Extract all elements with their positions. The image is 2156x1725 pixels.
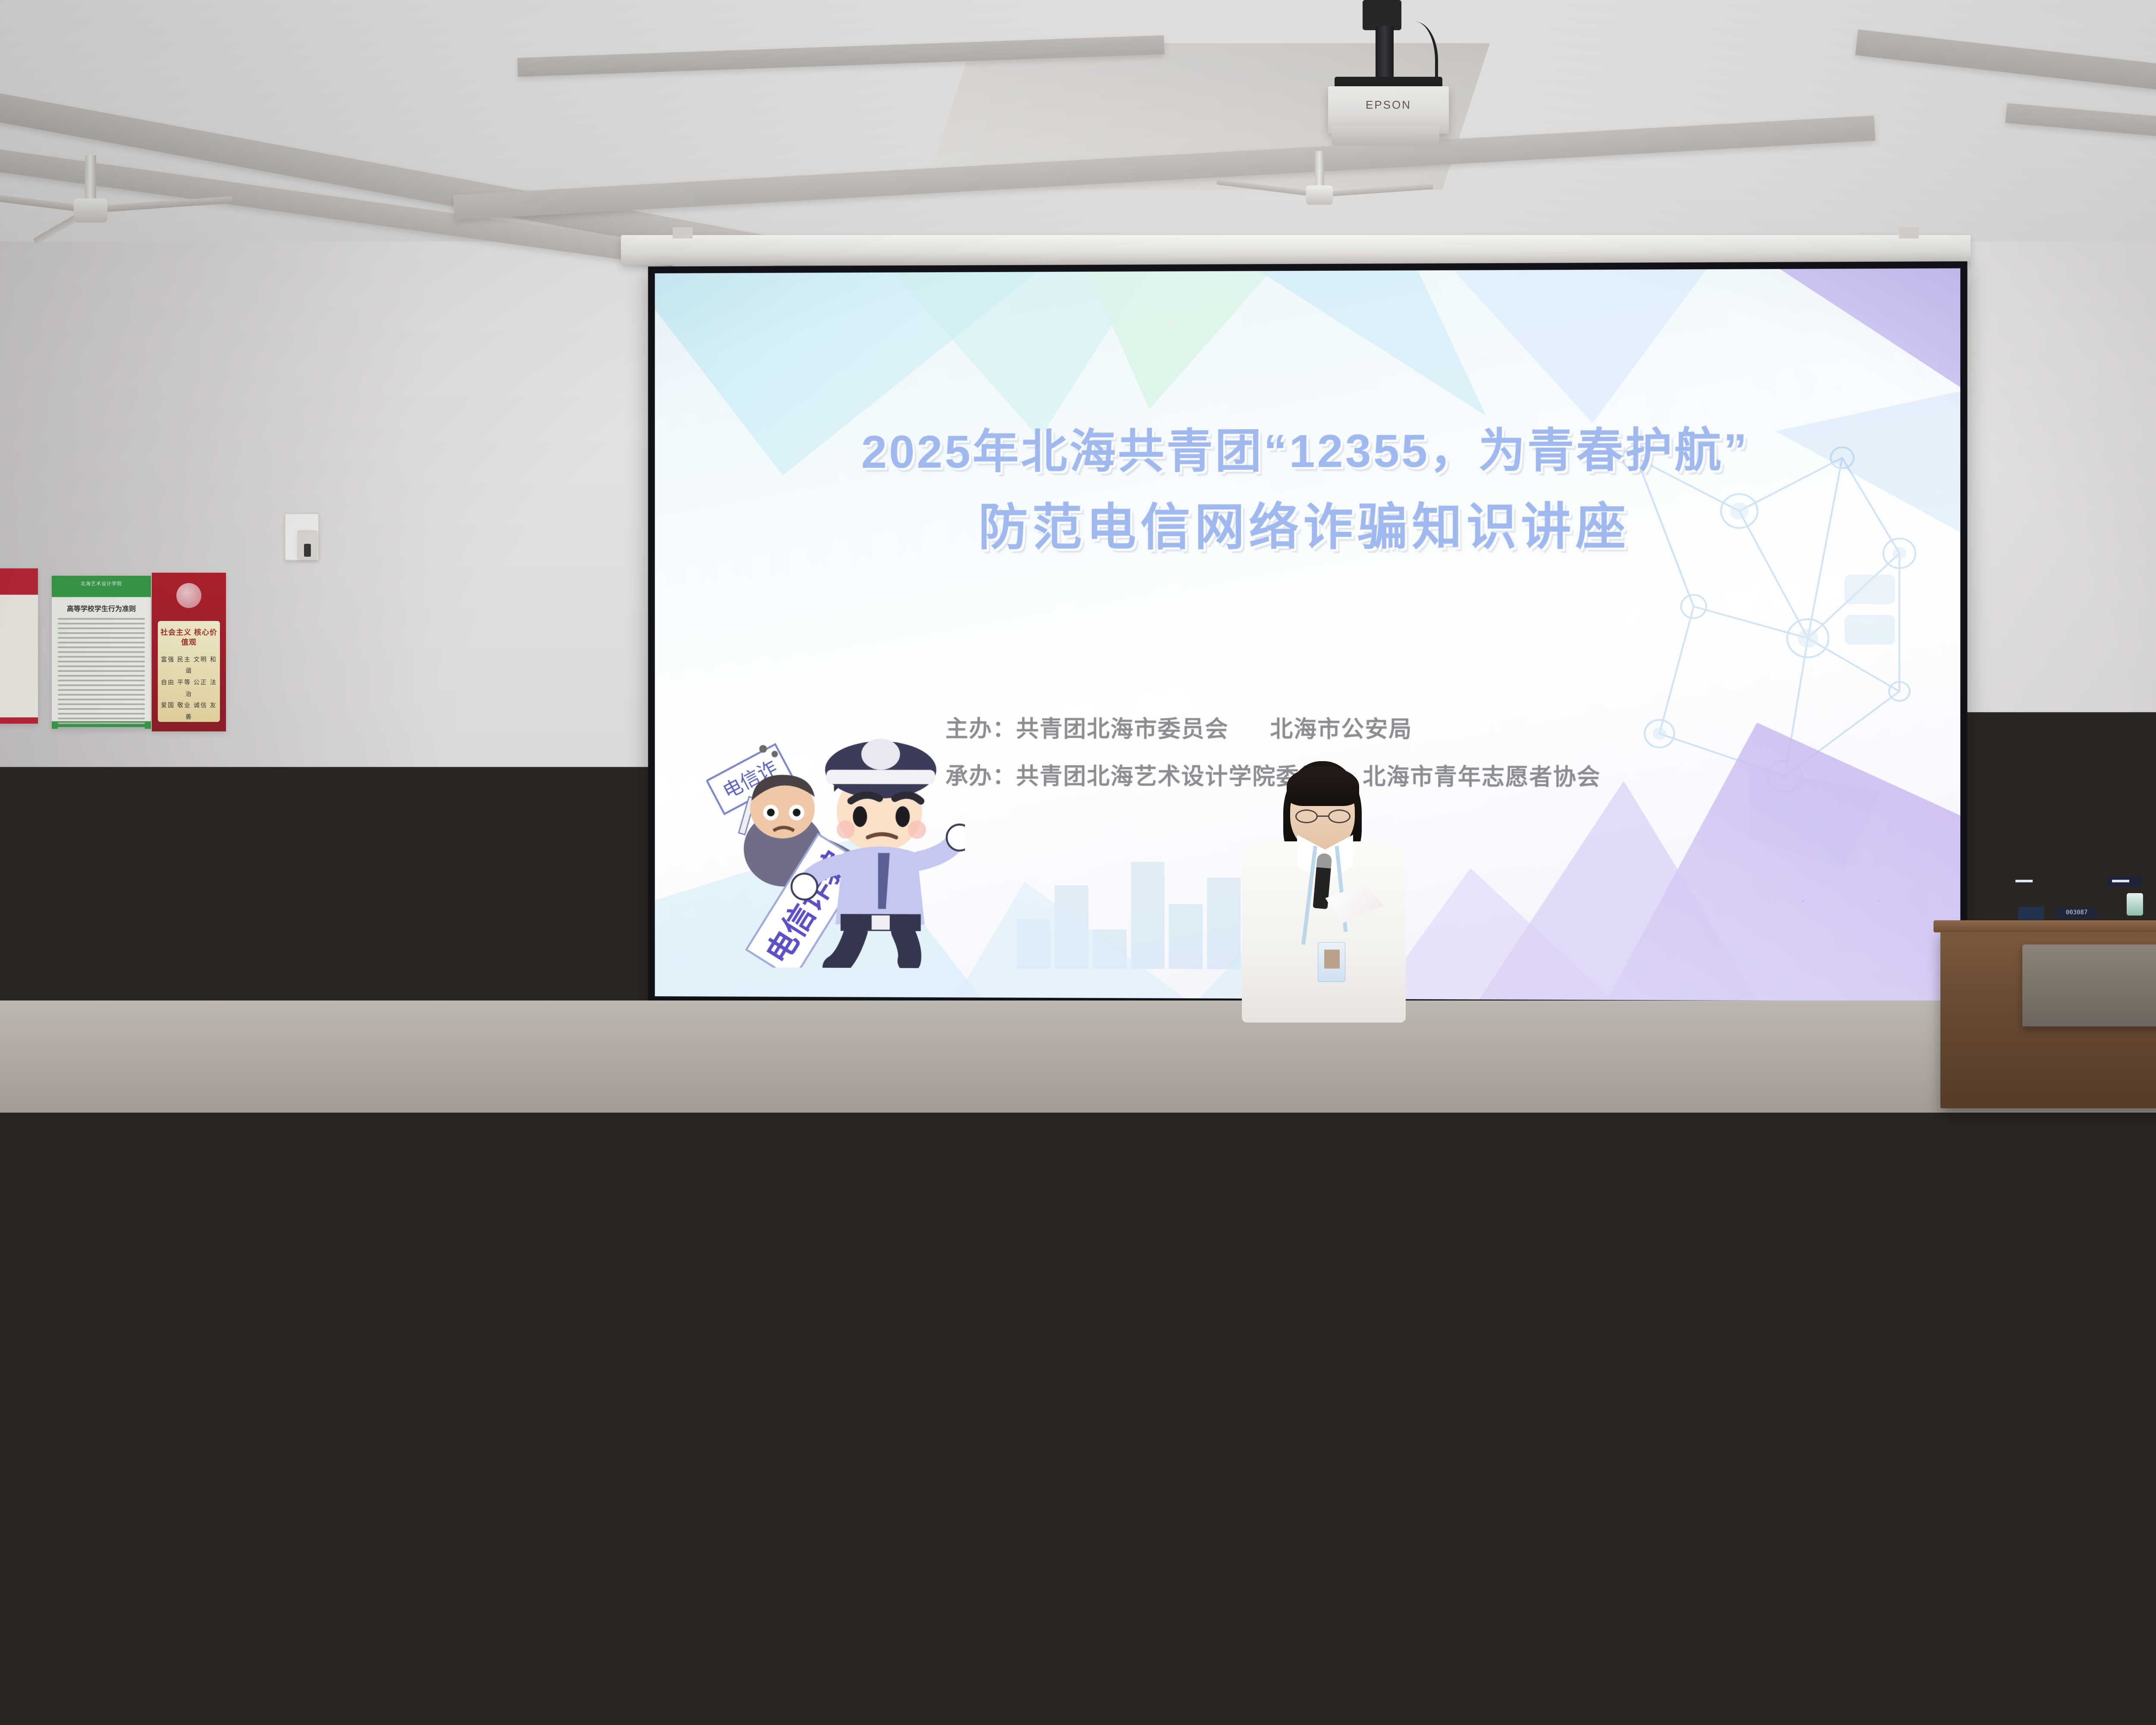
- ceiling-fan-icon: [65, 155, 116, 241]
- audience-member-long-hair: [318, 1615, 473, 1725]
- ceiling-beam: [2006, 103, 2156, 176]
- audience-member-long-hair: [1645, 1124, 1686, 1161]
- audience-member-long-hair: [966, 1206, 1022, 1259]
- audience-member: [258, 1177, 324, 1300]
- audience-member-long-hair: [2090, 1121, 2131, 1158]
- audience-member-long-hair: [89, 1322, 164, 1396]
- baseball-cap: [1354, 1172, 1404, 1205]
- baseball-cap: [631, 1100, 669, 1125]
- audience-member-long-hair: [1880, 1122, 1921, 1159]
- wall-poster-notice: [0, 568, 38, 724]
- audience-member: [511, 1175, 577, 1298]
- audience-member-long-hair: [570, 1127, 612, 1164]
- audience-member-long-hair: [771, 1128, 813, 1165]
- officer-epaulette: [2108, 876, 2141, 887]
- poster-body-text: [58, 618, 145, 732]
- audience-member-head: [1996, 1176, 2040, 1226]
- poster-school-header: 北海艺术设计学院: [52, 580, 151, 587]
- audience-member-head: [1587, 1105, 1621, 1142]
- baseball-cap: [1608, 1175, 1658, 1208]
- baseball-cap: [1937, 1107, 1974, 1132]
- audience-member-long-hair: [1256, 1207, 1312, 1260]
- officer-epaulette: [2011, 876, 2045, 887]
- audience-member-long-hair: [2068, 1201, 2123, 1253]
- baseball-cap: [216, 1102, 254, 1126]
- officer-head: [2045, 800, 2109, 877]
- audience-member-long-hair: [402, 1322, 477, 1396]
- baseball-cap: [406, 1283, 473, 1328]
- audience-member-head: [1902, 1183, 1947, 1233]
- audience-member: [2120, 1573, 2156, 1725]
- audience-member-long-hair: [1542, 1206, 1598, 1258]
- audience-member-long-hair: [1763, 1310, 1838, 1384]
- audience-member-head: [645, 1279, 705, 1346]
- screen-bracket: [673, 227, 693, 238]
- baseball-cap: [1139, 1101, 1176, 1125]
- audience-member-head: [67, 1112, 101, 1149]
- poster-values-list: 富强 民主 文明 和谐 自由 平等 公正 法治 爱国 敬业 诚信 友善: [158, 654, 220, 723]
- officer-shoulder-patch: [2127, 893, 2143, 916]
- fan-rod: [1315, 151, 1324, 189]
- audience-member-head: [1153, 1549, 1278, 1687]
- baseball-cap: [1798, 1175, 1848, 1208]
- audience-member-head: [0, 1108, 24, 1145]
- baseball-cap: [1087, 1170, 1137, 1203]
- audience-member: [962, 1560, 1147, 1725]
- projection-screen-housing: [621, 235, 1971, 265]
- audience-member: [1150, 1177, 1216, 1301]
- audience-member-head: [0, 1285, 36, 1352]
- ceiling: [0, 0, 2156, 241]
- organizer-line: 主办： 共青团北海市委员会 北海市公安局: [946, 711, 1861, 745]
- audience-member-long-hair: [357, 1125, 399, 1162]
- audience-member-head: [886, 1289, 946, 1356]
- audience-member: [1556, 1568, 1742, 1725]
- audience-member-head: [1991, 1287, 2051, 1355]
- audience-member-long-hair: [1448, 1458, 1552, 1561]
- audience-member: [303, 1552, 488, 1725]
- baseball-cap: [2019, 1104, 2056, 1129]
- audience-member-head: [621, 1183, 666, 1233]
- audience-member-head: [1789, 1107, 1823, 1144]
- audience-member: [1601, 1181, 1666, 1305]
- audience-seating-area: [0, 983, 2156, 1725]
- audience-member-head: [1739, 1112, 1773, 1149]
- projector-brand-label: EPSON: [1328, 98, 1449, 112]
- baseball-cap: [1266, 1394, 1361, 1456]
- values-row-2: 自由 平等 公正 法治: [158, 677, 220, 699]
- glasses-icon: [1295, 809, 1351, 823]
- fan-rod: [85, 155, 96, 203]
- audience-member-long-hair: [1428, 1313, 1503, 1387]
- baseball-cap: [75, 1178, 125, 1211]
- audience-member-head: [169, 1574, 294, 1712]
- baseball-cap: [2154, 1105, 2156, 1130]
- audience-member-head: [721, 1414, 805, 1508]
- baseball-cap: [984, 1543, 1125, 1634]
- baseball-cap: [1078, 1103, 1116, 1128]
- baseball-cap: [266, 1171, 316, 1204]
- poster-emblem-icon: [176, 583, 201, 608]
- audience-member-long-hair: [1852, 1453, 1957, 1556]
- baseball-cap: [1158, 1171, 1208, 1204]
- audience-member: [0, 1561, 108, 1725]
- baseball-cap: [417, 1101, 455, 1125]
- audience-member: [2149, 1110, 2156, 1199]
- audience-member-head: [926, 1107, 959, 1144]
- slide-title-line-2: 防范电信网络诈骗知识讲座: [655, 492, 1961, 561]
- audience-member: [626, 1105, 674, 1194]
- audience-member-head: [1432, 1175, 1477, 1225]
- audience-member-long-hair: [1795, 1204, 1851, 1256]
- audience-member: [1123, 1549, 1308, 1725]
- baseball-cap: [239, 1398, 334, 1460]
- audience-member-long-hair: [1001, 1129, 1043, 1166]
- audience-member: [1343, 1570, 1528, 1725]
- projector-mount-rod: [1376, 26, 1394, 84]
- screen-bracket: [1899, 227, 1919, 238]
- baseball-cap: [2019, 1413, 2114, 1475]
- audience-member: [1892, 1183, 1957, 1307]
- projector-lens-housing: [1332, 126, 1439, 146]
- audience-member-long-hair: [1429, 1126, 1470, 1163]
- slide-polygon-decoration: [1225, 268, 1486, 417]
- audience-member-head: [332, 1281, 392, 1349]
- baseball-cap: [1767, 1271, 1834, 1316]
- audience-member-long-hair: [1115, 1317, 1190, 1391]
- audience-member-head: [869, 1106, 903, 1143]
- wall-poster-core-values: 社会主义 核心价值观 富强 民主 文明 和谐 自由 平等 公正 法治 爱国 敬业…: [152, 573, 226, 731]
- police-mascot-illustration: 电信诈 电信诈骗: [706, 678, 965, 969]
- audience-member-long-hair: [1228, 1128, 1270, 1165]
- poster-values-title: 社会主义 核心价值观: [158, 628, 220, 648]
- audience-member-head: [555, 1285, 615, 1352]
- audience-member-head: [1730, 1174, 1774, 1224]
- audience-member-long-hair: [711, 1204, 767, 1257]
- poster-title: 高等学校学生行为准则: [52, 603, 151, 613]
- poster-values-card: 社会主义 核心价值观 富强 民主 文明 和谐 自由 平等 公正 法治 爱国 敬业…: [158, 621, 220, 722]
- slide-title-block: 2025年北海共青团“12355，为青春护航” 防范电信网络诈骗知识讲座: [655, 419, 1961, 561]
- organizer-main: 共青团北海市委员会: [1016, 711, 1228, 744]
- baseball-cap: [1858, 1399, 1952, 1462]
- audience-member: [1251, 1185, 1316, 1308]
- audience-member-body: [2149, 1137, 2156, 1189]
- audience-member-long-hair: [122, 1123, 164, 1160]
- baseball-cap: [519, 1169, 569, 1202]
- baseball-cap: [1511, 1107, 1548, 1132]
- baseball-cap: [1555, 1284, 1623, 1328]
- audience-member: [898, 1180, 963, 1304]
- audience-member-head: [792, 1175, 837, 1225]
- audience-member: [1079, 1176, 1144, 1299]
- audience-member-head: [1748, 1408, 1832, 1502]
- baseball-cap: [120, 1412, 215, 1474]
- fan-hub: [1306, 185, 1333, 205]
- audience-member-head: [332, 1184, 376, 1234]
- slide-title-line-1: 2025年北海共青团“12355，为青春护航”: [655, 419, 1961, 484]
- baseball-cap: [764, 1282, 831, 1326]
- values-row-1: 富强 民主 文明 和谐: [158, 654, 220, 677]
- audience-member-head: [432, 1409, 516, 1503]
- audience-member-long-hair: [444, 1201, 499, 1254]
- audience-member: [0, 1179, 35, 1303]
- audience-member: [139, 1574, 324, 1725]
- audience-member-head: [0, 1414, 53, 1509]
- camera-sensor-icon: [298, 530, 317, 559]
- audience-member-head: [1376, 1104, 1410, 1142]
- baseball-cap: [93, 1283, 160, 1328]
- baseball-cap: [527, 1412, 622, 1474]
- audience-member: [1722, 1548, 1908, 1725]
- audience-member-head: [837, 1406, 922, 1500]
- host-id-card: [1318, 942, 1345, 982]
- audience-member: [354, 1108, 403, 1197]
- audience-member-long-hair: [146, 1199, 202, 1251]
- audience-member-head: [1373, 1570, 1498, 1708]
- audience-member: [211, 1106, 260, 1195]
- audience-member-head: [1200, 1291, 1261, 1358]
- baseball-cap: [1431, 1274, 1499, 1319]
- lecture-hall-scene: EPSON: [0, 0, 2156, 1725]
- baseball-cap: [1281, 1105, 1318, 1130]
- baseball-cap: [1745, 1531, 1885, 1622]
- audience-member-head: [1913, 1290, 1973, 1358]
- audience-member: [782, 1175, 847, 1298]
- ceiling-fan-icon: [1299, 151, 1340, 220]
- audience-member: [2062, 1178, 2128, 1302]
- baseball-cap: [184, 1273, 251, 1317]
- fan-hub: [74, 198, 107, 223]
- values-row-3: 爱国 敬业 诚信 友善: [158, 699, 220, 722]
- organizer-secondary: 北海市公安局: [1270, 711, 1412, 744]
- audience-member: [701, 1574, 887, 1725]
- audience-member-head: [1346, 1280, 1407, 1348]
- audience-member-head: [908, 1180, 953, 1230]
- baseball-cap: [991, 1409, 1086, 1471]
- officer-chest-patch: [2018, 907, 2044, 920]
- audience-member-head: [498, 1111, 531, 1148]
- audience-member-long-hair: [977, 1622, 1132, 1725]
- audience-member-head: [731, 1574, 856, 1712]
- audience-member-long-hair: [760, 1320, 835, 1395]
- officer-badge-number: 003087: [2056, 907, 2097, 918]
- audience-member-head: [1151, 1419, 1235, 1513]
- host-hair-front: [1287, 766, 1359, 806]
- wall-poster-student-code: 北海艺术设计学院 高等学校学生行为准则: [52, 576, 151, 729]
- audience-member-head: [726, 1109, 759, 1146]
- audience-member-head: [1558, 1423, 1643, 1517]
- baseball-cap: [975, 1270, 1043, 1315]
- audience-member-long-hair: [116, 1466, 220, 1568]
- projector-icon: EPSON: [1311, 17, 1483, 116]
- audience-member: [1985, 1176, 2051, 1299]
- audience-member: [1877, 1105, 1925, 1194]
- audience-member-head: [1676, 1284, 1736, 1351]
- baseball-cap: [714, 1176, 765, 1209]
- baseball-cap: [266, 1107, 304, 1132]
